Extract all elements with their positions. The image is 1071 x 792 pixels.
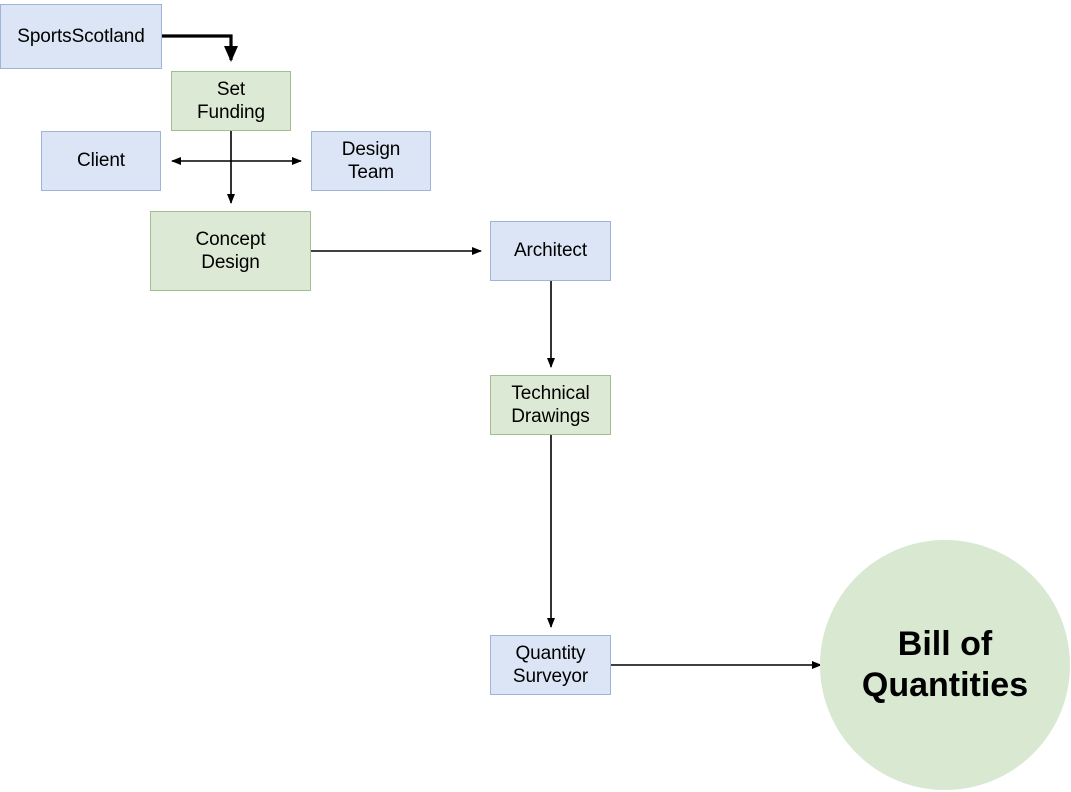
node-concept-design[interactable]: Concept Design xyxy=(150,211,311,291)
node-bill-of-quantities[interactable]: Bill of Quantities xyxy=(820,540,1070,790)
node-quantity-surveyor[interactable]: Quantity Surveyor xyxy=(490,635,611,695)
flowchart-canvas: SportsScotland Set Funding Client Design… xyxy=(0,0,1071,792)
node-design-team[interactable]: Design Team xyxy=(311,131,431,191)
edge-sportsscotland-to-setfunding xyxy=(161,36,231,60)
node-sports-scotland[interactable]: SportsScotland xyxy=(0,4,162,69)
node-set-funding[interactable]: Set Funding xyxy=(171,71,291,131)
node-architect[interactable]: Architect xyxy=(490,221,611,281)
node-technical-drawings[interactable]: Technical Drawings xyxy=(490,375,611,435)
node-client[interactable]: Client xyxy=(41,131,161,191)
